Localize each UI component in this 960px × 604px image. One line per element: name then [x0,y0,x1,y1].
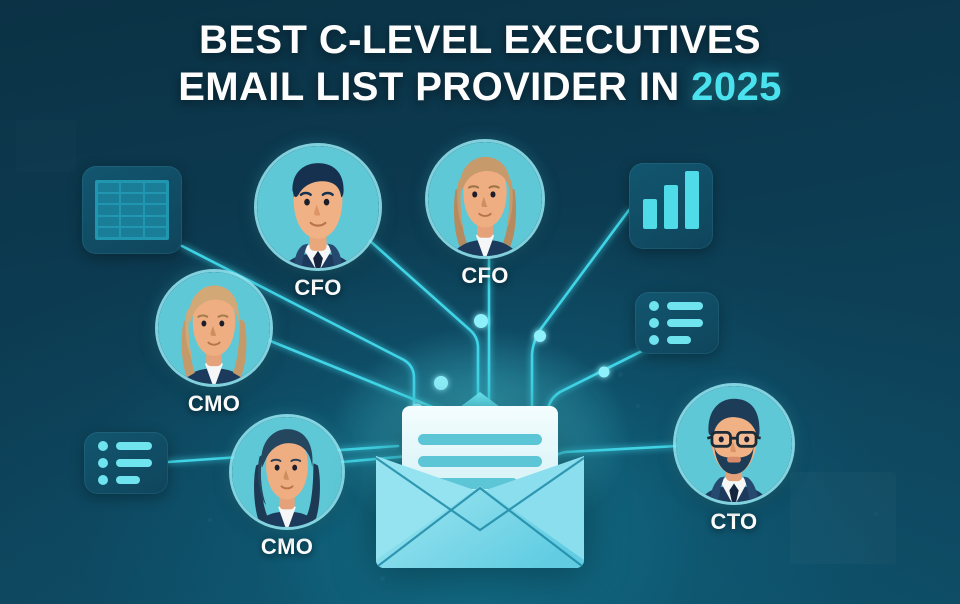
list-item [649,301,719,311]
list-item [98,475,168,485]
avatar-illustration-cmo-blonde [158,272,270,384]
person-role-label: CMO [232,534,342,560]
list-item [649,318,719,328]
letter-line-1 [418,434,542,445]
avatar-illustration-cfo-female [428,142,542,256]
avatar[interactable] [428,142,542,256]
avatar[interactable] [232,417,342,527]
list-item [98,441,168,451]
title-year: 2025 [691,65,782,109]
person-node-cfo-female[interactable]: CFO [428,142,542,289]
infographic-canvas: BEST C-LEVEL EXECUTIVES EMAIL LIST PROVI… [0,0,960,604]
person-node-cto[interactable]: CTO [676,386,792,535]
avatar[interactable] [257,146,379,268]
person-node-cmo-blonde[interactable]: CMO [158,272,270,417]
list-item [649,335,719,345]
person-node-cfo-male[interactable]: CFO [257,146,379,301]
bar-chart-bar-3 [685,171,699,229]
title-line-2-main: EMAIL LIST PROVIDER IN [178,65,679,109]
letter-line-2 [418,456,542,467]
person-role-label: CFO [257,275,379,301]
open-envelope-icon[interactable] [370,400,590,575]
bar-chart-icon [629,163,713,249]
spreadsheet-grid [95,180,169,240]
bullet-list-icon-right [635,292,719,354]
avatar-illustration-cmo-brunette [232,417,342,527]
page-title: BEST C-LEVEL EXECUTIVES EMAIL LIST PROVI… [0,20,960,108]
bar-chart-bar-2 [664,185,678,229]
title-line-2: EMAIL LIST PROVIDER IN 2025 [0,67,960,108]
title-line-1: BEST C-LEVEL EXECUTIVES [0,20,960,61]
person-role-label: CFO [428,263,542,289]
avatar-illustration-cto [676,386,792,502]
avatar[interactable] [158,272,270,384]
envelope-illustration [370,400,590,575]
spreadsheet-icon [82,166,182,254]
list-item [98,458,168,468]
avatar-illustration-cfo-male [257,146,379,268]
avatar[interactable] [676,386,792,502]
bullet-list-icon-left [84,432,168,494]
person-role-label: CMO [158,391,270,417]
person-node-cmo-brunette[interactable]: CMO [232,417,342,560]
person-role-label: CTO [676,509,792,535]
bar-chart-bar-1 [643,199,657,229]
